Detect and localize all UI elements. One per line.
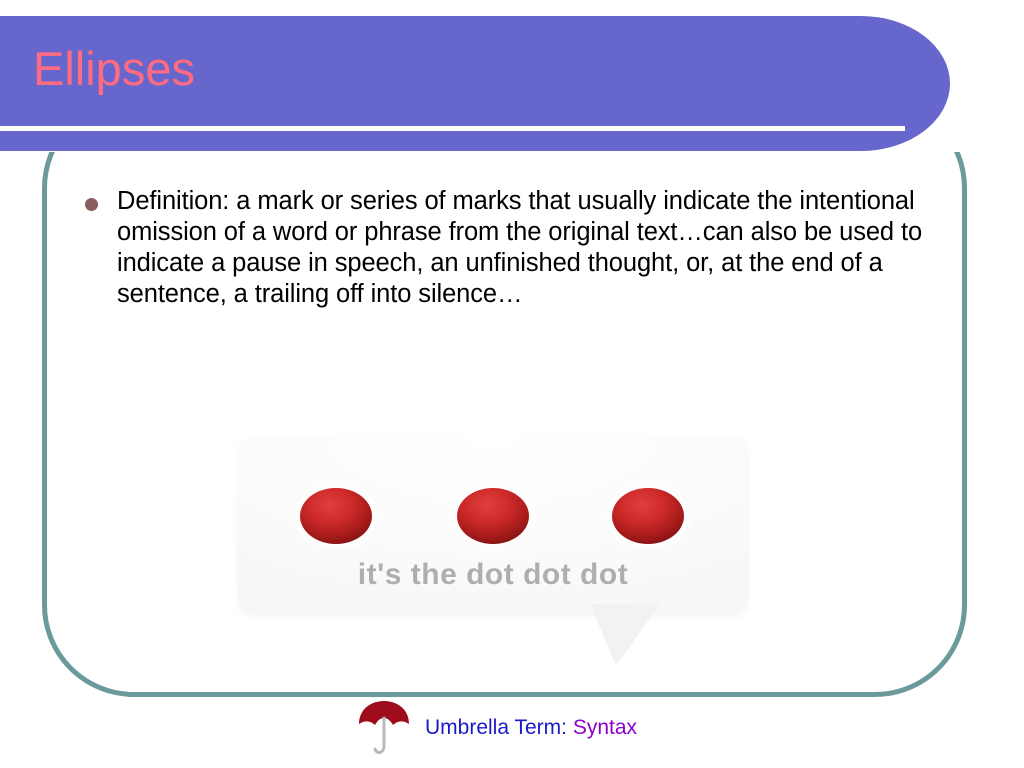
speech-bubble-caption: it's the dot dot dot [238, 558, 748, 592]
footer-caption: Umbrella Term: Syntax [425, 716, 637, 742]
bullet-dot-icon [85, 198, 98, 211]
header-divider-rule [0, 126, 905, 131]
speech-bubble-body: it's the dot dot dot [238, 436, 748, 614]
footer-caption-accent: Syntax [567, 716, 637, 739]
footer-caption-main: Umbrella Term: [425, 716, 567, 739]
page-title: Ellipses [33, 41, 195, 97]
bullet-item: Definition: a mark or series of marks th… [80, 186, 960, 310]
body-content: Definition: a mark or series of marks th… [80, 186, 960, 310]
bullet-item-text: Definition: a mark or series of marks th… [117, 187, 922, 308]
speech-bubble-figure: it's the dot dot dot [238, 436, 758, 686]
umbrella-icon [355, 698, 415, 760]
footer-bar: Umbrella Term: Syntax [355, 694, 637, 764]
speech-bubble-tail [590, 604, 660, 666]
red-dot-icon-3 [612, 488, 684, 544]
red-dot-icon-2 [457, 488, 529, 544]
slide-canvas: Ellipses Definition: a mark or series of… [0, 0, 1024, 768]
red-dot-icon-1 [300, 488, 372, 544]
